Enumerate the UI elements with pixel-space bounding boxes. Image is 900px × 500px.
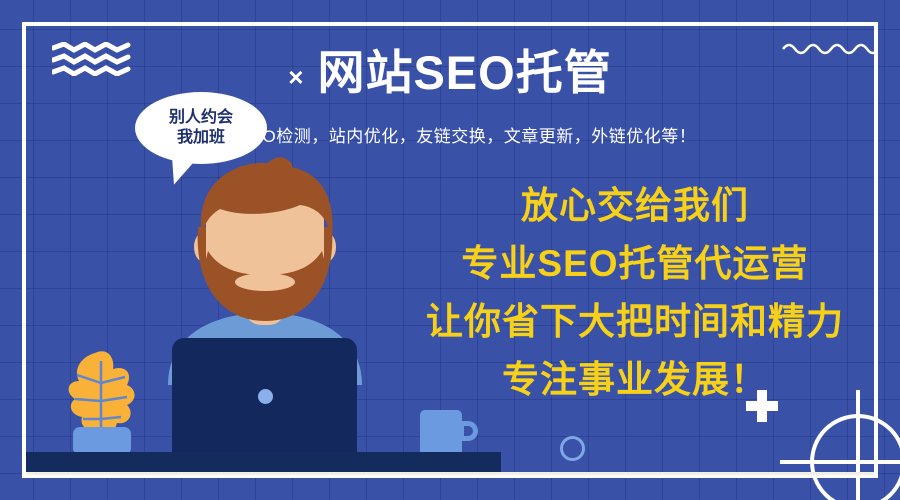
speech-bubble: 别人约会 我加班 [135, 92, 267, 164]
page-title: × 网站SEO托管 [0, 48, 900, 99]
circle-corner-icon [780, 390, 900, 500]
close-icon: × [288, 64, 303, 90]
desk-edge-highlight [26, 472, 874, 475]
message-line: 让你省下大把时间和精力 [426, 302, 844, 342]
message-line: 专注事业发展！ [502, 360, 768, 400]
message-list: 放心交给我们 专业SEO托管代运营 让你省下大把时间和精力 专注事业发展！ [400, 186, 870, 400]
seo-hosting-poster: × 网站SEO托管 含：SEO检测，站内优化，友链交换，文章更新，外链优化等！ … [0, 0, 900, 500]
ring-icon [560, 436, 585, 461]
potted-plant-icon [55, 345, 150, 457]
desk-icon [26, 452, 501, 474]
speech-bubble-line-1: 别人约会 [169, 108, 233, 128]
message-line: 专业SEO托管代运营 [461, 244, 808, 284]
speech-bubble-line-2: 我加班 [177, 128, 225, 148]
laptop-icon [172, 338, 357, 458]
title-text: 网站SEO托管 [317, 48, 611, 99]
message-line: 放心交给我们 [521, 186, 749, 226]
coffee-mug-icon [418, 408, 482, 458]
laptop-logo-dot [258, 389, 273, 404]
